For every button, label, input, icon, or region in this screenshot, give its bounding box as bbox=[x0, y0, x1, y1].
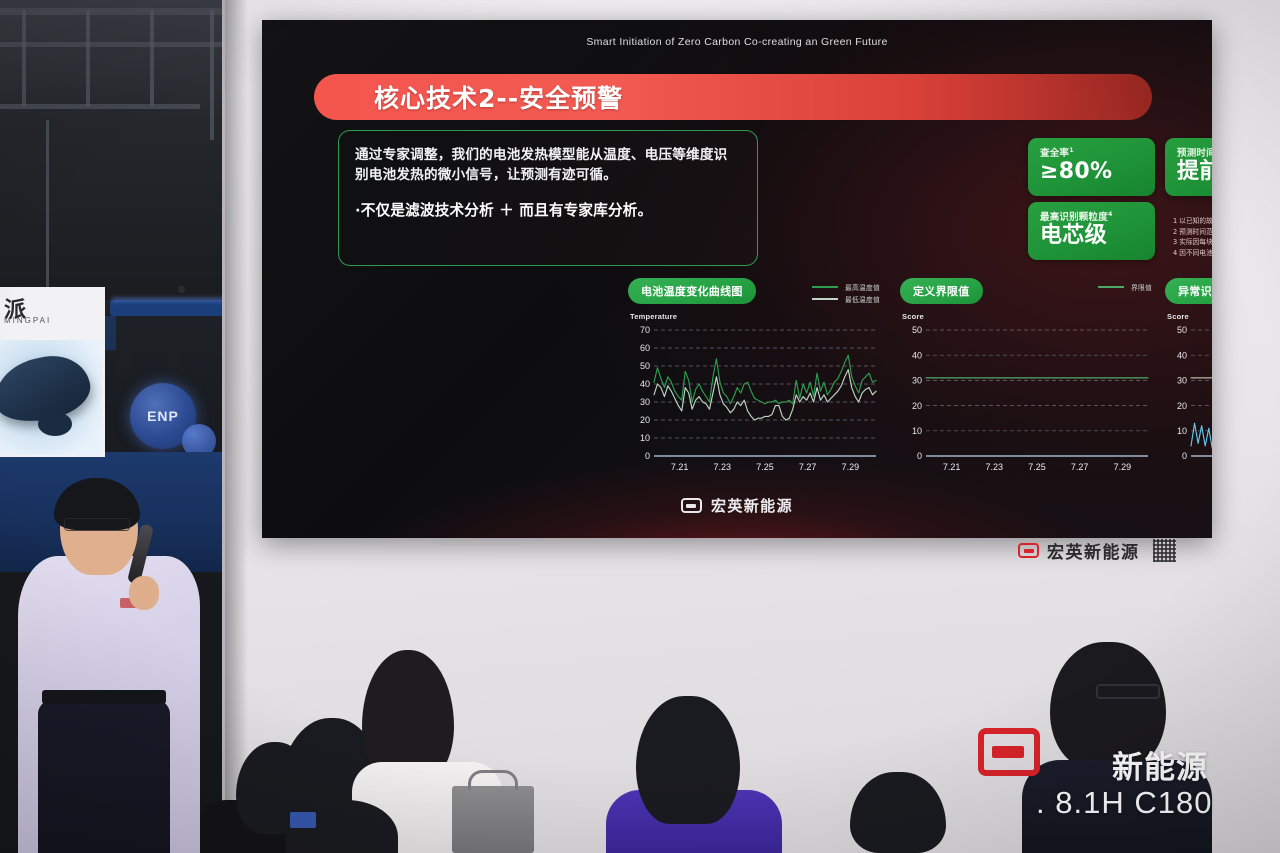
legend-entry: 界限值 bbox=[1098, 282, 1152, 292]
svg-text:7.21: 7.21 bbox=[671, 462, 689, 472]
slide-headline: Smart Initiation of Zero Carbon Co-creat… bbox=[262, 36, 1212, 48]
slide-footer-logo-text: 宏英新能源 bbox=[711, 495, 793, 516]
legend-entry: 最高温度值 bbox=[812, 282, 880, 292]
metric-label: 最高识别颗粒度4 bbox=[1040, 209, 1145, 223]
chart-title: 异常识别预测图 bbox=[1165, 278, 1212, 304]
legend-swatch-icon bbox=[1098, 286, 1124, 288]
svg-text:50: 50 bbox=[1177, 325, 1187, 335]
chart-y-axis-label: Temperature bbox=[630, 312, 677, 321]
metric-value: 提前7天 bbox=[1177, 160, 1212, 185]
slide-footer-logo: 宏英新能源 bbox=[262, 495, 1212, 516]
spotlight-fixture bbox=[166, 351, 185, 376]
svg-text:7.29: 7.29 bbox=[842, 462, 860, 472]
chart-legend: 界限值 bbox=[1098, 282, 1152, 294]
legend-entry: 最低温度值 bbox=[812, 294, 880, 304]
booth-column bbox=[104, 316, 116, 350]
chart-plot-area: 0102030405060707.217.237.257.277.29 bbox=[628, 324, 880, 478]
product-shoe-heel bbox=[38, 412, 72, 436]
neighbor-booth-product-image bbox=[0, 340, 102, 455]
truss-post bbox=[210, 10, 214, 140]
tote-bag bbox=[452, 786, 534, 853]
metric-label: 预测时间2 bbox=[1177, 145, 1212, 159]
legend-label: 最高温度值 bbox=[845, 282, 880, 292]
legend-label: 界限值 bbox=[1131, 282, 1152, 292]
svg-text:10: 10 bbox=[912, 426, 922, 436]
chart-battery-temperature: 电池温度变化曲线图 最高温度值 最低温度值 Temperature 010203… bbox=[628, 278, 880, 478]
svg-text:7.29: 7.29 bbox=[1114, 462, 1132, 472]
metric-label: 查全率1 bbox=[1040, 145, 1145, 159]
footnote-item: 1以已知的故障类型为基础，实际因场景和电池材料不同有区别。 bbox=[1173, 216, 1212, 227]
footnote-item: 2预测时间范围可依据需求调整，以实际结果为准。 bbox=[1173, 227, 1212, 238]
chart-anomaly-prediction: 异常识别预测图 界限值 Score 01020304050 bbox=[1165, 278, 1212, 478]
spotlight-fixture bbox=[115, 350, 135, 375]
chart-y-axis-label: Score bbox=[902, 312, 924, 321]
wall-brand-logo-text: 宏英新能源 bbox=[1047, 538, 1140, 563]
metric-value: ≥80% bbox=[1040, 160, 1145, 185]
eyeglasses-icon bbox=[1096, 684, 1160, 699]
chart-title: 电池温度变化曲线图 bbox=[628, 278, 756, 304]
ceiling-fixture bbox=[178, 286, 185, 293]
metric-card-prediction-time: 预测时间2 提前7天 bbox=[1165, 138, 1212, 196]
neighbor-booth-subtitle: MINGPAI bbox=[4, 316, 51, 325]
eyeglasses-icon bbox=[64, 518, 130, 531]
svg-text:0: 0 bbox=[645, 451, 650, 461]
svg-text:40: 40 bbox=[912, 350, 922, 360]
legend-swatch-icon bbox=[812, 298, 838, 300]
svg-text:7.27: 7.27 bbox=[1071, 462, 1089, 472]
slide-title: 核心技术2--安全预警 bbox=[374, 79, 623, 115]
chart-plot-area: 01020304050 bbox=[1165, 324, 1212, 478]
hongying-logo-icon-large bbox=[978, 728, 1040, 776]
chart-threshold-definition: 定义界限值 界限值 Score 010203040507.217.237.257… bbox=[900, 278, 1152, 478]
presenter-trousers bbox=[38, 700, 170, 853]
slide-title-bar: 核心技术2--安全预警 bbox=[314, 74, 1152, 120]
presenter-hand bbox=[129, 576, 159, 610]
svg-text:60: 60 bbox=[640, 343, 650, 353]
wall-edge-shadow bbox=[222, 0, 248, 853]
svg-text:30: 30 bbox=[912, 376, 922, 386]
screenshot-root: ENP 派 MINGPAI Smart Initiation of Zero C… bbox=[0, 0, 1280, 853]
slide-text-card: 通过专家调整，我们的电池发热模型能从温度、电压等维度识别电池发热的微小信号，让预… bbox=[338, 130, 758, 266]
metric-card-granularity: 最高识别颗粒度4 电芯级 bbox=[1028, 202, 1155, 260]
overlay-cjk-text: 新能源 bbox=[1112, 742, 1280, 787]
overlay-booth-code: . 8.1H C180 bbox=[1036, 785, 1212, 821]
svg-text:40: 40 bbox=[1177, 350, 1187, 360]
truss-post bbox=[46, 120, 49, 290]
footnote-item: 3实际因每块电池的使用场景不同而有差异。 bbox=[1173, 237, 1212, 248]
metric-value: 电芯级 bbox=[1040, 224, 1145, 249]
svg-text:10: 10 bbox=[640, 433, 650, 443]
chart-title: 定义界限值 bbox=[900, 278, 983, 304]
presentation-slide: Smart Initiation of Zero Carbon Co-creat… bbox=[262, 20, 1212, 538]
audience-head bbox=[636, 696, 740, 824]
truss-post bbox=[22, 10, 26, 106]
svg-text:7.27: 7.27 bbox=[799, 462, 817, 472]
svg-text:20: 20 bbox=[1177, 401, 1187, 411]
truss-post bbox=[150, 10, 154, 106]
legend-swatch-icon bbox=[812, 286, 838, 288]
svg-text:50: 50 bbox=[912, 325, 922, 335]
slide-body-paragraph-2: ·不仅是滤波技术分析 ＋ 而且有专家库分析。 bbox=[355, 199, 741, 220]
svg-text:30: 30 bbox=[640, 397, 650, 407]
svg-text:7.25: 7.25 bbox=[1028, 462, 1046, 472]
chart-legend: 最高温度值 最低温度值 bbox=[812, 282, 880, 306]
hongying-logo-icon bbox=[681, 498, 702, 513]
svg-text:30: 30 bbox=[1177, 376, 1187, 386]
svg-text:7.25: 7.25 bbox=[756, 462, 774, 472]
tote-bag-handle bbox=[468, 770, 518, 790]
slide-body-paragraph-1: 通过专家调整，我们的电池发热模型能从温度、电压等维度识别电池发热的微小信号，让预… bbox=[355, 145, 741, 186]
badge-lanyard bbox=[290, 812, 316, 828]
hongying-logo-icon bbox=[1018, 543, 1039, 558]
legend-label: 最低温度值 bbox=[845, 294, 880, 304]
svg-text:0: 0 bbox=[1182, 451, 1187, 461]
chart-plot-area: 010203040507.217.237.257.277.29 bbox=[900, 324, 1152, 478]
ceiling-truss-beam bbox=[0, 104, 200, 109]
qr-code-icon bbox=[1153, 539, 1176, 562]
svg-text:7.21: 7.21 bbox=[943, 462, 961, 472]
svg-text:7.23: 7.23 bbox=[986, 462, 1004, 472]
truss-post bbox=[86, 10, 90, 106]
svg-text:20: 20 bbox=[912, 401, 922, 411]
svg-text:0: 0 bbox=[917, 451, 922, 461]
chart-y-axis-label: Score bbox=[1167, 312, 1189, 321]
wall-edge-line bbox=[222, 0, 225, 853]
svg-text:20: 20 bbox=[640, 415, 650, 425]
slide-footnotes: 1以已知的故障类型为基础，实际因场景和电池材料不同有区别。 2预测时间范围可依据… bbox=[1173, 216, 1212, 259]
svg-text:10: 10 bbox=[1177, 426, 1187, 436]
svg-text:7.23: 7.23 bbox=[714, 462, 732, 472]
metric-card-recall: 查全率1 ≥80% bbox=[1028, 138, 1155, 196]
svg-text:70: 70 bbox=[640, 325, 650, 335]
enp-logo-text: ENP bbox=[147, 408, 179, 424]
presenter-belt bbox=[42, 690, 166, 704]
svg-text:50: 50 bbox=[640, 361, 650, 371]
wall-brand-logo: 宏英新能源 bbox=[1018, 538, 1176, 563]
footnote-item: 4因不同电池包制造规格和数据质量而有不同。 bbox=[1173, 248, 1212, 259]
svg-text:40: 40 bbox=[640, 379, 650, 389]
